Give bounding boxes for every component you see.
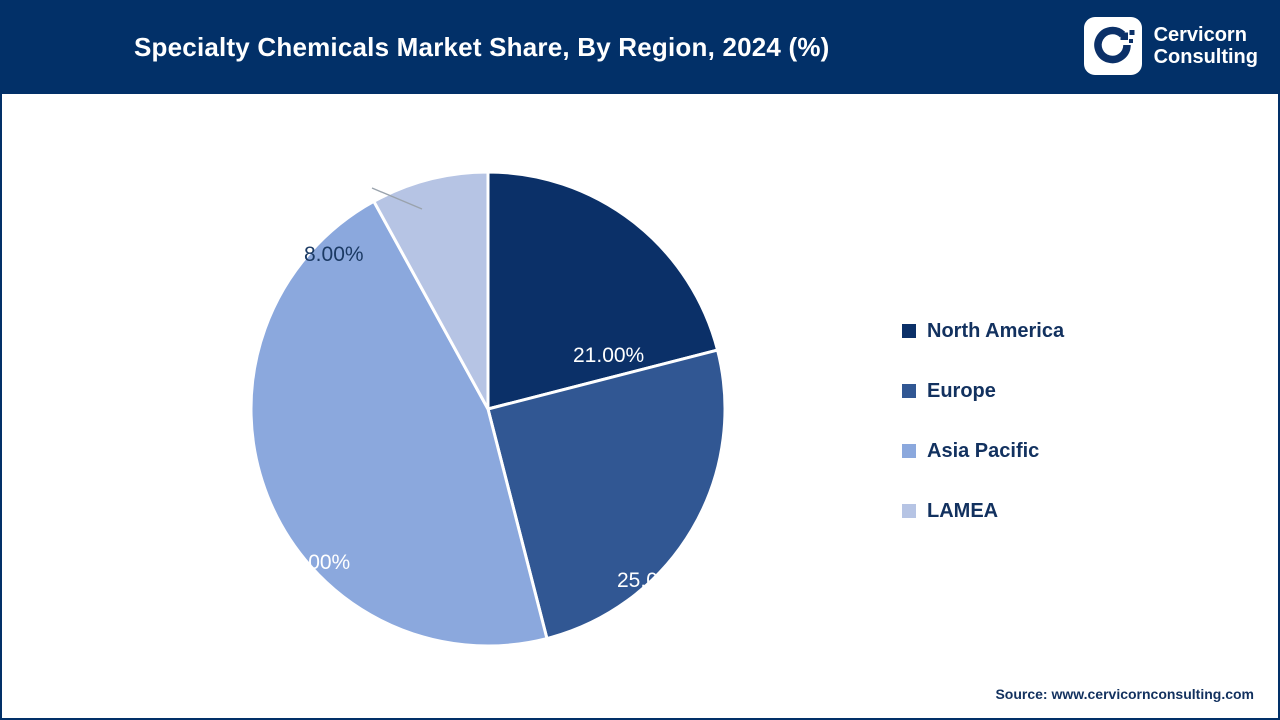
brand-name-line1: Cervicorn xyxy=(1154,24,1258,46)
slice-label-asia-pacific: 46.00% xyxy=(279,551,350,575)
legend-label: LAMEA xyxy=(927,500,998,523)
brand-logo: Cervicorn Consulting xyxy=(1084,17,1258,75)
legend-swatch-icon xyxy=(902,324,916,338)
legend-item-asia-pacific[interactable]: Asia Pacific xyxy=(902,421,1064,481)
page-title: Specialty Chemicals Market Share, By Reg… xyxy=(134,32,830,63)
legend-item-europe[interactable]: Europe xyxy=(902,361,1064,421)
legend-label: North America xyxy=(927,320,1064,343)
legend-swatch-icon xyxy=(902,504,916,518)
chart-figure: Specialty Chemicals Market Share, By Reg… xyxy=(0,0,1280,720)
legend-item-lamea[interactable]: LAMEA xyxy=(902,481,1064,541)
legend-swatch-icon xyxy=(902,444,916,458)
slice-label-europe: 25.00% xyxy=(617,569,688,593)
legend-label: Asia Pacific xyxy=(927,440,1039,463)
slice-label-lamea: 8.00% xyxy=(304,243,364,267)
chart-header: Specialty Chemicals Market Share, By Reg… xyxy=(0,0,1280,94)
legend-swatch-icon xyxy=(902,384,916,398)
brand-name-line2: Consulting xyxy=(1154,46,1258,68)
chart-legend: North America Europe Asia Pacific LAMEA xyxy=(902,301,1064,541)
cervicorn-logo-icon xyxy=(1084,17,1142,75)
legend-label: Europe xyxy=(927,380,996,403)
source-note: Source: www.cervicornconsulting.com xyxy=(995,686,1254,702)
legend-item-north-america[interactable]: North America xyxy=(902,301,1064,361)
slice-label-north-america: 21.00% xyxy=(573,344,644,368)
brand-name: Cervicorn Consulting xyxy=(1154,24,1258,68)
plot-area: 21.00% 25.00% 46.00% 8.00% North America… xyxy=(2,96,1278,718)
